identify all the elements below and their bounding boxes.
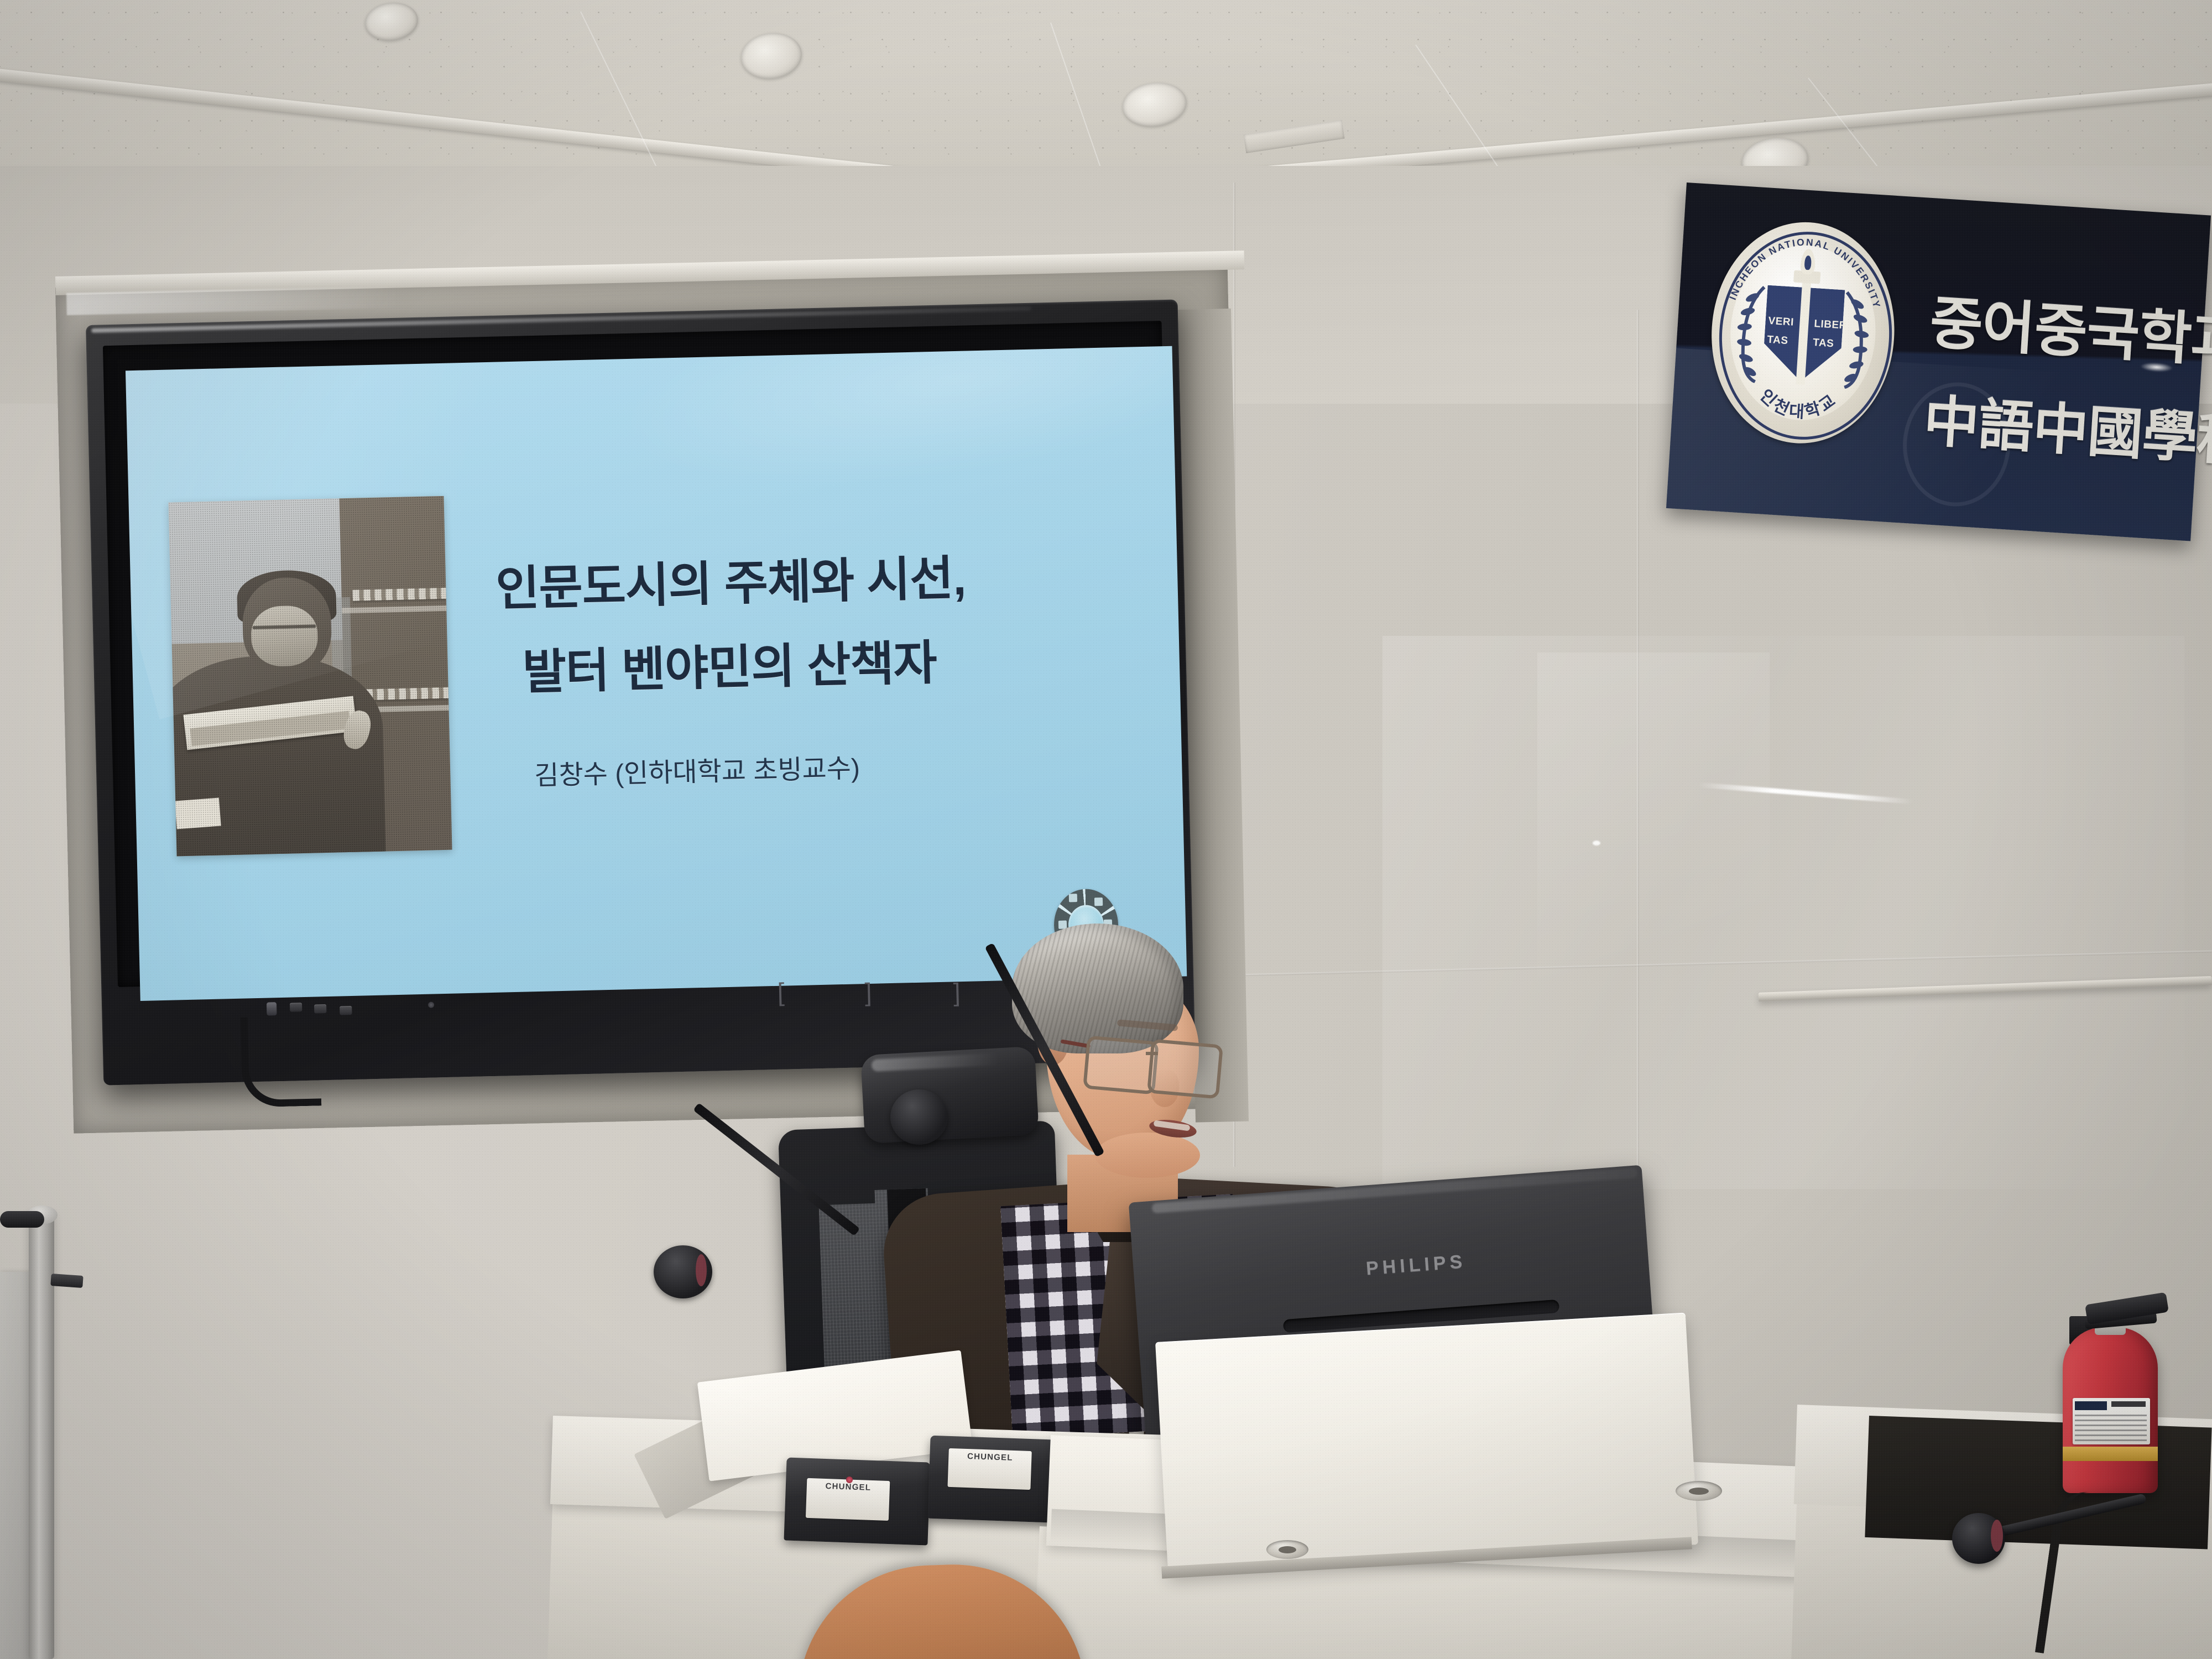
- seal-arc-korean: 인천대학교: [1755, 385, 1842, 424]
- microphone-capsule-right[interactable]: [890, 1089, 948, 1145]
- lecture-room-photo: 인문도시의 주체와 시선, 발터 벤야민의 산책자 김창수 (인하대학교 초빙교…: [0, 0, 2212, 1659]
- microphone-base-left[interactable]: CHUNGEL: [784, 1458, 930, 1546]
- seal-motto-word: TAS: [1767, 334, 1788, 347]
- presentation-slide[interactable]: 인문도시의 주체와 시선, 발터 벤야민의 산책자 김창수 (인하대학교 초빙교…: [126, 346, 1187, 1001]
- cable-grommet-hole: [1279, 1546, 1296, 1553]
- extinguisher-label-bar: [2111, 1401, 2146, 1407]
- seal-motto-word: TAS: [1813, 337, 1834, 350]
- whiteboard-stand-clip: [50, 1274, 83, 1288]
- slide-title-line-1: 인문도시의 주체와 시선,: [495, 552, 1082, 613]
- glasses-lens-right-icon: [1147, 1039, 1223, 1099]
- radial-segment-icon[interactable]: [1094, 898, 1103, 906]
- podium-privacy-panel: [1155, 1313, 1698, 1574]
- banner-korean-text: 중어중국학과: [1928, 275, 2212, 378]
- extinguisher-label-header: [2075, 1401, 2107, 1410]
- microphone-label-right: CHUNGEL: [948, 1448, 1032, 1467]
- slide-author-line: 김창수 (인하대학교 초빙교수): [534, 741, 1087, 793]
- bezel-mark-icon: ]: [864, 979, 872, 1005]
- display-power-button[interactable]: [290, 1003, 302, 1012]
- display-power-cable: [241, 1015, 322, 1107]
- wall-gloss-reflection: [1383, 636, 2184, 1189]
- wall-light-spot: [1593, 841, 1600, 846]
- microphone-indicator-led: [846, 1477, 853, 1483]
- slide-title-line-2: 발터 벤야민의 산책자: [522, 635, 1109, 697]
- whiteboard-stand-post: [29, 1211, 54, 1659]
- display-panel: 인문도시의 주체와 시선, 발터 벤야민의 산책자 김창수 (인하대학교 초빙교…: [103, 321, 1177, 987]
- svg-text:인천대학교: 인천대학교: [1755, 385, 1842, 424]
- extinguisher-label-text-rows: [2075, 1413, 2147, 1441]
- bezel-mark-icon: [: [777, 979, 785, 1005]
- display-control-row[interactable]: [290, 998, 429, 1018]
- display-input-button[interactable]: [340, 1006, 352, 1015]
- screen-glare: [613, 346, 1187, 520]
- ir-receiver-icon: [267, 1002, 277, 1015]
- cable-grommet-hole: [1689, 1488, 1709, 1495]
- wall-gloss-reflection: [1537, 653, 1770, 1073]
- photo-film-grain: [169, 496, 452, 857]
- extinguisher-yellow-band: [2063, 1447, 2158, 1461]
- dark-cabinet-base: [1865, 1416, 2211, 1550]
- seal-motto-word: LIBER: [1814, 318, 1848, 332]
- laurel-wreath-icon: [1731, 282, 1769, 383]
- microphone-ring-far-right: [1991, 1520, 2003, 1552]
- glasses-bridge-icon: [1146, 1052, 1158, 1055]
- seal-motto-word: VERI: [1768, 315, 1794, 329]
- department-banner: INCHEON NATIONAL UNIVERSITY 인천대학교: [1666, 182, 2211, 541]
- display-menu-button[interactable]: [314, 1004, 326, 1014]
- university-seal: INCHEON NATIONAL UNIVERSITY 인천대학교: [1705, 217, 1901, 449]
- whiteboard-stand-handle[interactable]: [0, 1211, 44, 1228]
- walter-benjamin-photo: [169, 496, 452, 857]
- microphone-ring-left: [696, 1254, 707, 1286]
- radial-segment-icon[interactable]: [1069, 894, 1077, 902]
